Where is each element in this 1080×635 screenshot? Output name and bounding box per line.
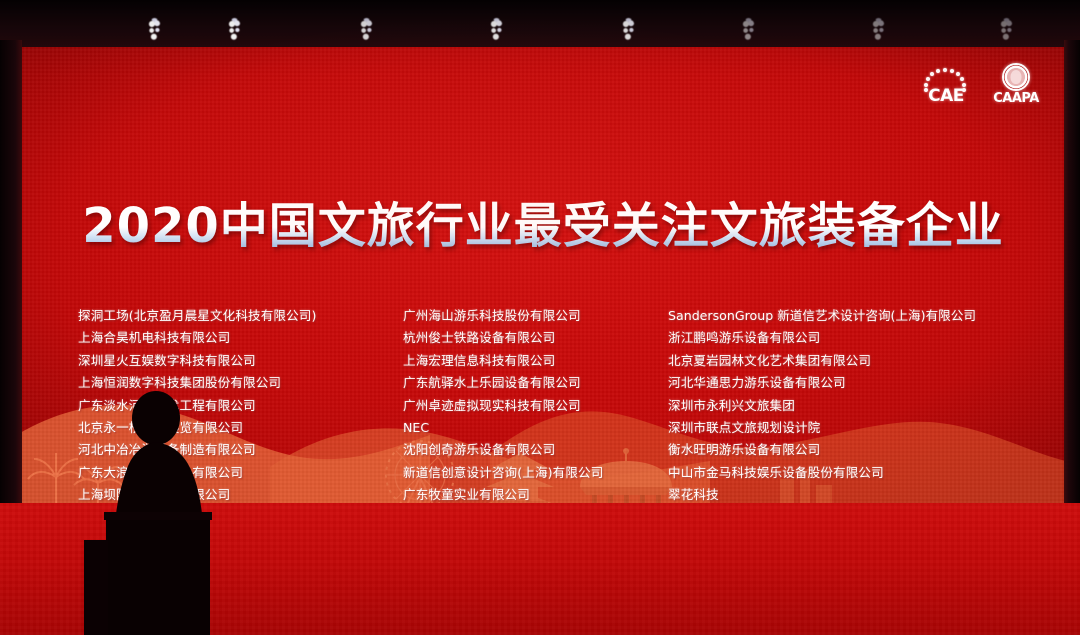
company-name: 上海合昊机电科技有限公司: [78, 327, 403, 349]
company-name: 浙江鹏鸣游乐设备有限公司: [668, 327, 1053, 349]
company-name: 上海宏理信息科技有限公司: [403, 350, 668, 372]
cluster-light: [490, 18, 503, 42]
circular-emblem-icon: [1002, 63, 1030, 91]
company-name: 北京夏岩园林文化艺术集团有限公司: [668, 350, 1053, 372]
company-name: SandersonGroup 新道信艺术设计咨询(上海)有限公司: [668, 305, 1053, 327]
company-column-3: SandersonGroup 新道信艺术设计咨询(上海)有限公司 浙江鹏鸣游乐设…: [668, 305, 1053, 507]
company-name: 沈阳创奇游乐设备有限公司: [403, 439, 668, 461]
caapa-logo-text: CAAPA: [988, 92, 1044, 105]
venue-ceiling: [0, 0, 1080, 52]
caapa-logo: CAAPA: [988, 63, 1044, 105]
cluster-light: [228, 18, 241, 42]
company-name: 广东航驿水上乐园设备有限公司: [403, 372, 668, 394]
speaker-at-podium-silhouette: [84, 390, 294, 635]
conference-hall-scene: CAE CAAPA 2020中国文旅行业最受关注文旅装备企业 探洞工场(北京盈月…: [0, 0, 1080, 635]
company-name: NEC: [403, 417, 668, 439]
company-name: 广州卓迹虚拟现实科技有限公司: [403, 395, 668, 417]
company-name: 深圳市联点文旅规划设计院: [668, 417, 1053, 439]
cluster-light: [148, 18, 161, 42]
palm-tree-icon: [28, 453, 84, 507]
company-name: 衡水旺明游乐设备有限公司: [668, 439, 1053, 461]
cluster-light: [360, 18, 373, 42]
company-name: 探洞工场(北京盈月晨星文化科技有限公司): [78, 305, 403, 327]
ferris-wheel-dots-icon: [924, 68, 968, 91]
cluster-light: [872, 18, 885, 42]
company-name: 深圳市永利兴文旅集团: [668, 395, 1053, 417]
company-name: 广州海山游乐科技股份有限公司: [403, 305, 668, 327]
cluster-light: [622, 18, 635, 42]
cluster-light: [742, 18, 755, 42]
company-column-2: 广州海山游乐科技股份有限公司 杭州俊士铁路设备有限公司 上海宏理信息科技有限公司…: [403, 305, 668, 507]
cluster-light: [1000, 18, 1013, 42]
silhouette-svg: [84, 390, 294, 635]
company-name: 新道信创意设计咨询(上海)有限公司: [403, 462, 668, 484]
company-name: 河北华通思力游乐设备有限公司: [668, 372, 1053, 394]
company-name: 中山市金马科技娱乐设备股份有限公司: [668, 462, 1053, 484]
cae-logo: CAE: [918, 68, 974, 105]
company-name: 杭州俊士铁路设备有限公司: [403, 327, 668, 349]
company-name: 深圳星火互娱数字科技有限公司: [78, 350, 403, 372]
sponsor-logos: CAE CAAPA: [918, 63, 1044, 105]
slide-title: 2020中国文旅行业最受关注文旅装备企业: [20, 199, 1066, 253]
